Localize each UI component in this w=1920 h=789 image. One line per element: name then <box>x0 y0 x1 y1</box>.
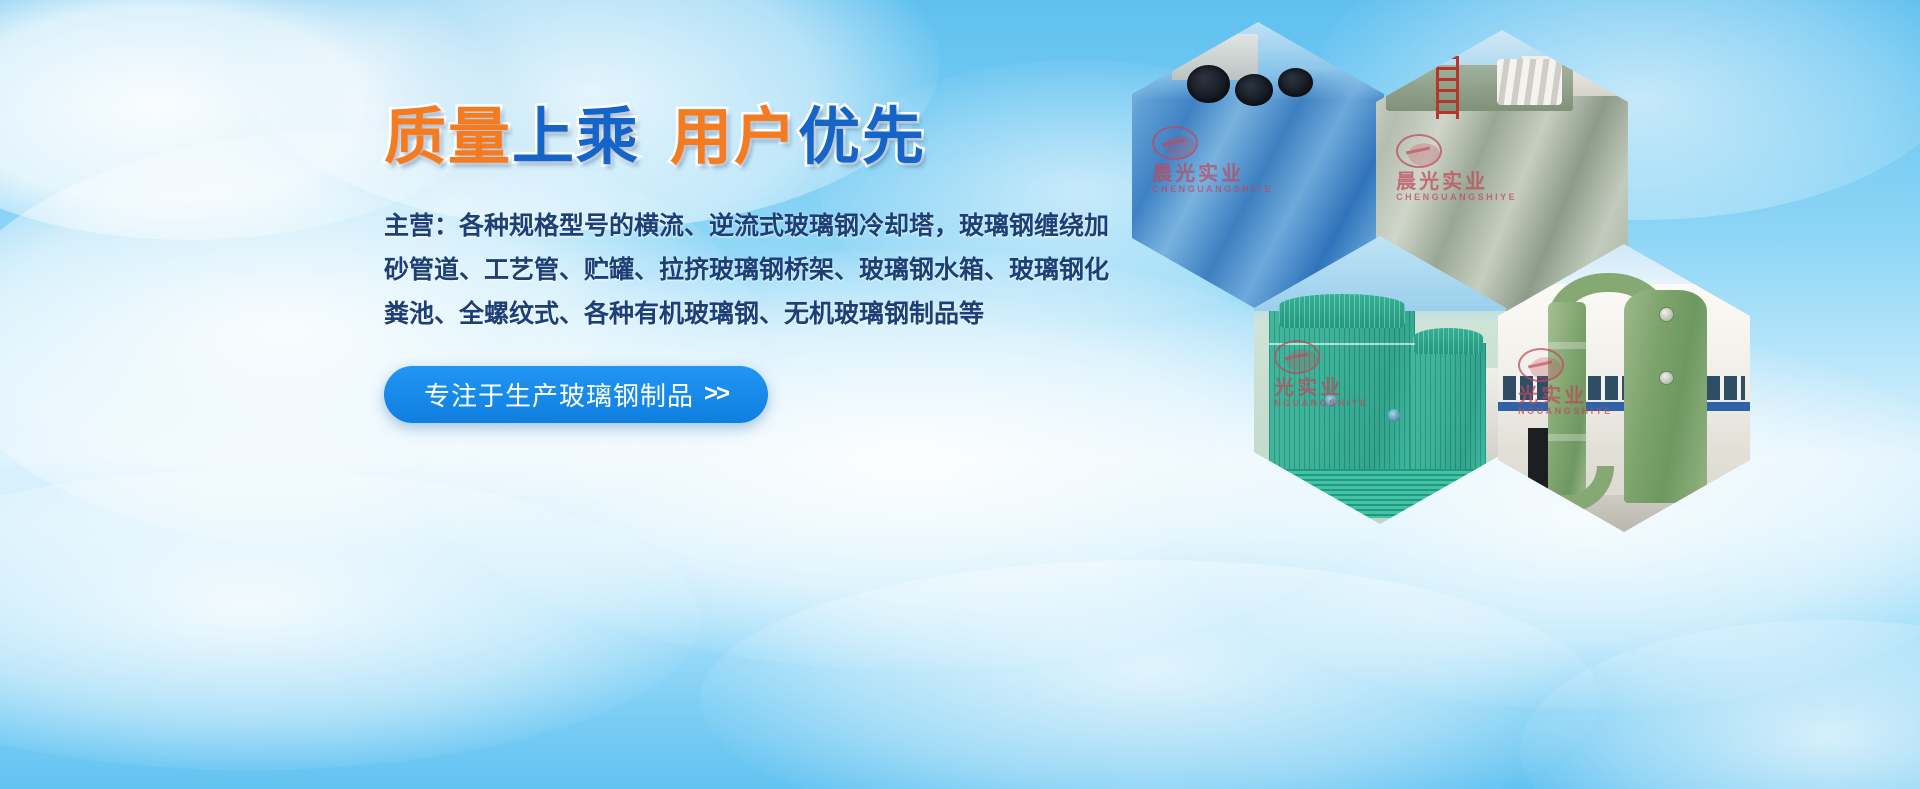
headline-segment-3: 用户 <box>670 100 798 173</box>
manhole-port <box>1659 307 1674 321</box>
handrail <box>1269 343 1415 345</box>
business-scope-label: 主营： <box>384 212 459 240</box>
cooling-tower-main <box>1269 311 1415 484</box>
louver-panel <box>1269 469 1486 518</box>
ladder-icon <box>1436 56 1459 119</box>
cloud-decoration <box>1520 620 1920 789</box>
chevron-right-double-icon: >> <box>704 380 728 408</box>
headline-segment-1: 质量 <box>384 100 512 173</box>
business-scope-body: 各种规格型号的横流、逆流式玻璃钢冷却塔，玻璃钢缠绕加砂管道、工艺管、贮罐、拉挤玻… <box>384 212 1109 328</box>
product-photo-cluster: 晨光实业 CHENGUANGSHIYE 晨光实业 CHENGUANGSHIYE <box>1120 8 1800 528</box>
cloud-decoration <box>700 560 1600 789</box>
cta-button[interactable]: 专注于生产玻璃钢制品 >> <box>384 366 768 423</box>
pipe-opening <box>1278 68 1313 97</box>
banner-copy: 质量上乘用户优先 主营：各种规格型号的横流、逆流式玻璃钢冷却塔，玻璃钢缠绕加砂管… <box>384 104 1144 423</box>
pipe-bundle <box>1497 59 1563 105</box>
cooling-tower-secondary <box>1410 343 1486 475</box>
scrubber-vessel <box>1624 290 1707 503</box>
hero-banner: 质量上乘用户优先 主营：各种规格型号的横流、逆流式玻璃钢冷却塔，玻璃钢缠绕加砂管… <box>0 0 1920 789</box>
nozzle-port <box>1388 409 1401 422</box>
headline-segment-4: 优先 <box>798 100 926 173</box>
duct-band <box>1548 434 1586 441</box>
pipe-opening <box>1187 65 1230 102</box>
palm-frond-icon <box>0 414 32 506</box>
headline: 质量上乘用户优先 <box>384 104 1144 170</box>
cloud-decoration <box>0 470 700 770</box>
headline-segment-2: 上乘 <box>512 100 640 173</box>
cta-label: 专注于生产玻璃钢制品 <box>424 376 694 413</box>
cooling-tower-fan-stack <box>1413 328 1484 354</box>
cooling-tower-fan-stack <box>1279 294 1405 329</box>
business-scope-text: 主营：各种规格型号的横流、逆流式玻璃钢冷却塔，玻璃钢缠绕加砂管道、工艺管、贮罐、… <box>384 204 1114 336</box>
duct-band <box>1548 342 1586 349</box>
pipe-opening <box>1235 74 1273 106</box>
